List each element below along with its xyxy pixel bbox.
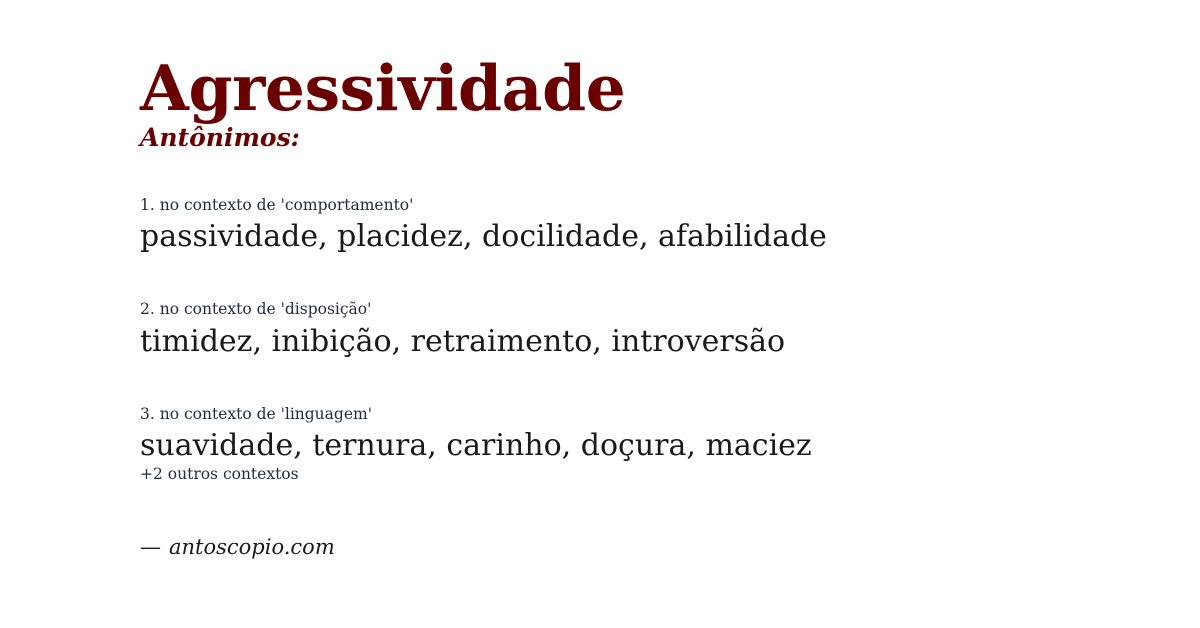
antonym-card: Agressividade Antônimos: 1. no contexto … [0,0,1200,628]
attribution: —antoscopio.com [140,535,335,560]
sense-block: 3. no contexto de 'linguagem' suavidade,… [140,405,1140,464]
sense-terms: suavidade, ternura, carinho, doçura, mac… [140,428,1140,464]
page-title: Agressividade [140,56,625,122]
sense-terms: passividade, placidez, docilidade, afabi… [140,219,1140,255]
card-header: Agressividade Antônimos: [140,56,625,151]
sense-terms: timidez, inibição, retraimento, introver… [140,324,1140,360]
sense-context-label: 1. no contexto de 'comportamento' [140,196,1140,215]
sense-context-label: 2. no contexto de 'disposição' [140,300,1140,319]
sense-context-label: 3. no contexto de 'linguagem' [140,405,1140,424]
relation-type-label: Antônimos: [140,124,625,152]
sense-block: 2. no contexto de 'disposição' timidez, … [140,300,1140,359]
em-dash-icon: — [140,535,161,559]
attribution-source: antoscopio.com [169,535,335,559]
sense-list: 1. no contexto de 'comportamento' passiv… [140,196,1140,464]
more-contexts-note: +2 outros contextos [140,465,299,484]
sense-block: 1. no contexto de 'comportamento' passiv… [140,196,1140,255]
